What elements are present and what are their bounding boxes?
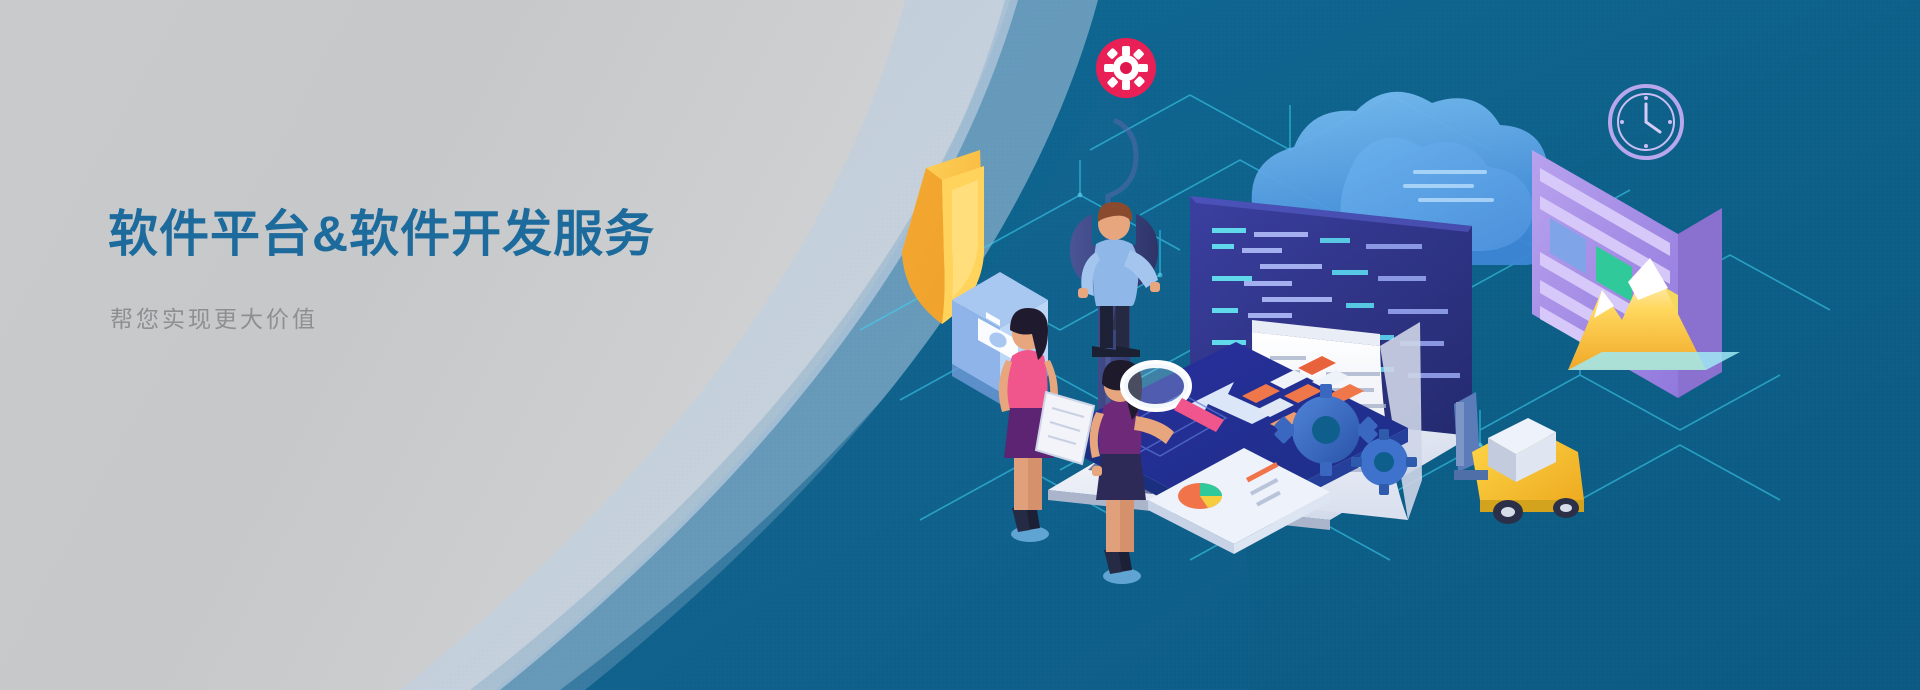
gear-badge-icon xyxy=(1096,38,1156,98)
clock-icon xyxy=(1610,86,1682,158)
page-subtitle: 帮您实现更大价值 xyxy=(110,300,868,334)
page-title: 软件平台&软件开发服务 xyxy=(108,205,868,264)
hero-copy: 软件平台&软件开发服务 帮您实现更大价值 xyxy=(108,205,868,334)
pie-chart-icon xyxy=(1178,483,1222,509)
hero-banner: 软件平台&软件开发服务 帮您实现更大价值 xyxy=(0,0,1920,690)
hero-illustration xyxy=(860,0,1920,690)
forklift-icon xyxy=(1454,392,1584,524)
